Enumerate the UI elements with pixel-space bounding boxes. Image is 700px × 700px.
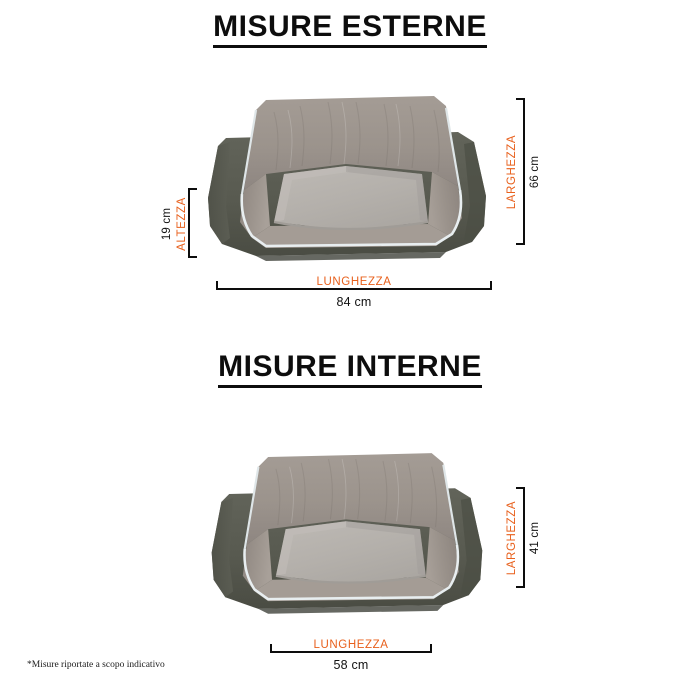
product-image-interne [200,442,492,622]
dimension-label-lunghezza-interne-name: LUNGHEZZA [201,638,501,652]
dimension-label-lunghezza-esterne-value: 84 cm [204,295,504,309]
footnote: *Misure riportate a scopo indicativo [27,660,165,670]
dimension-label-larghezza-interne-value: 41 cm [475,529,595,545]
section-title-interne: MISURE INTERNE [0,350,700,388]
section-title-interne-text: MISURE INTERNE [218,350,482,388]
dimension-label-altezza-value: 19 cm [107,215,227,231]
section-title-esterne: MISURE ESTERNE [0,10,700,48]
product-image-esterne [196,86,496,268]
bed-outer-fabric-left-shade [212,498,233,597]
dimension-label-lunghezza-interne-value: 58 cm [201,658,501,672]
section-title-esterne-text: MISURE ESTERNE [213,10,487,48]
dimension-label-larghezza-esterne-value: 66 cm [475,163,595,179]
pet-bed-illustration [196,86,496,268]
pet-bed-illustration-2 [200,442,492,622]
dimension-label-lunghezza-esterne-name: LUNGHEZZA [204,275,504,289]
